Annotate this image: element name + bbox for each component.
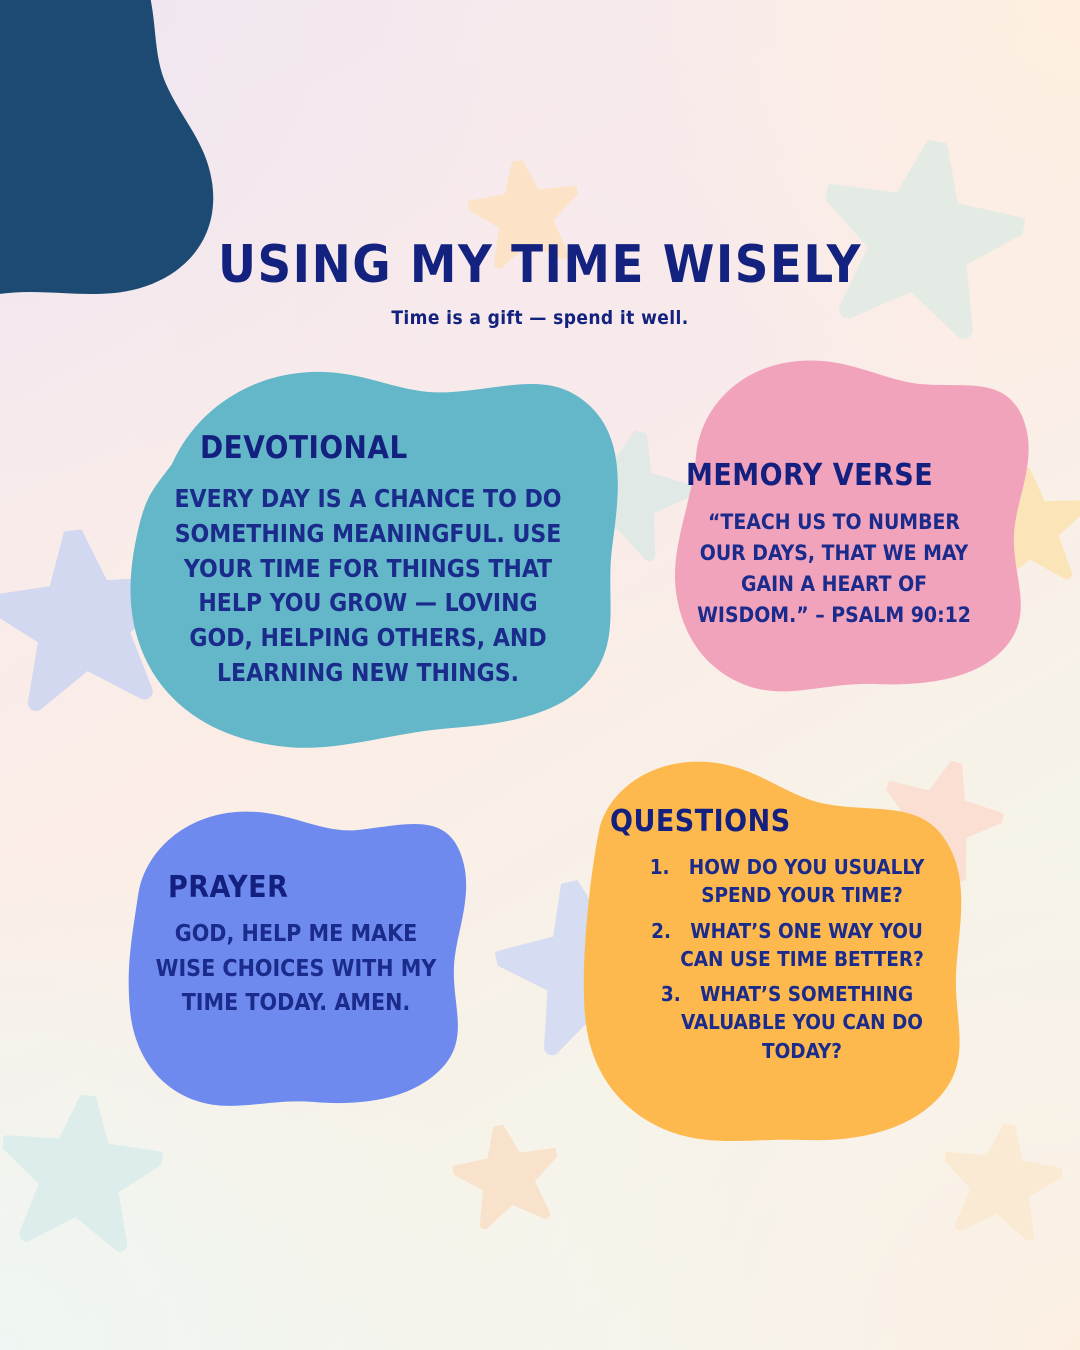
list-item: How do you usually spend your time? — [632, 853, 942, 910]
page-subtitle: Time is a gift — spend it well. — [0, 307, 1080, 329]
card-memory-verse-heading: Memory Verse — [686, 458, 990, 493]
list-item: What’s something valuable you can do tod… — [632, 980, 942, 1065]
card-memory-verse-body: “Teach us to number our days, that we ma… — [678, 507, 990, 631]
card-memory-verse: Memory Verse “Teach us to number our day… — [648, 348, 1036, 720]
page-title: Using My Time Wisely — [0, 238, 1080, 293]
card-questions-heading: Questions — [610, 804, 946, 839]
poster-canvas: Using My Time Wisely Time is a gift — sp… — [0, 0, 1080, 1350]
list-item: What’s one way you can use time better? — [632, 917, 942, 974]
card-prayer: Prayer God, help me make wise choices wi… — [110, 800, 482, 1118]
star-peach-bottom-icon — [447, 1117, 569, 1239]
card-devotional-body: Every day is a chance to do something me… — [168, 482, 568, 691]
card-questions: Questions How do you usually spend your … — [560, 752, 980, 1150]
card-devotional-heading: Devotional — [200, 430, 568, 466]
card-questions-list: How do you usually spend your time? What… — [610, 853, 946, 1072]
card-prayer-body: God, help me make wise choices with my t… — [146, 917, 446, 1021]
card-prayer-heading: Prayer — [168, 870, 446, 905]
poster-header: Using My Time Wisely Time is a gift — sp… — [0, 238, 1080, 329]
card-devotional: Devotional Every day is a chance to do s… — [100, 352, 630, 757]
